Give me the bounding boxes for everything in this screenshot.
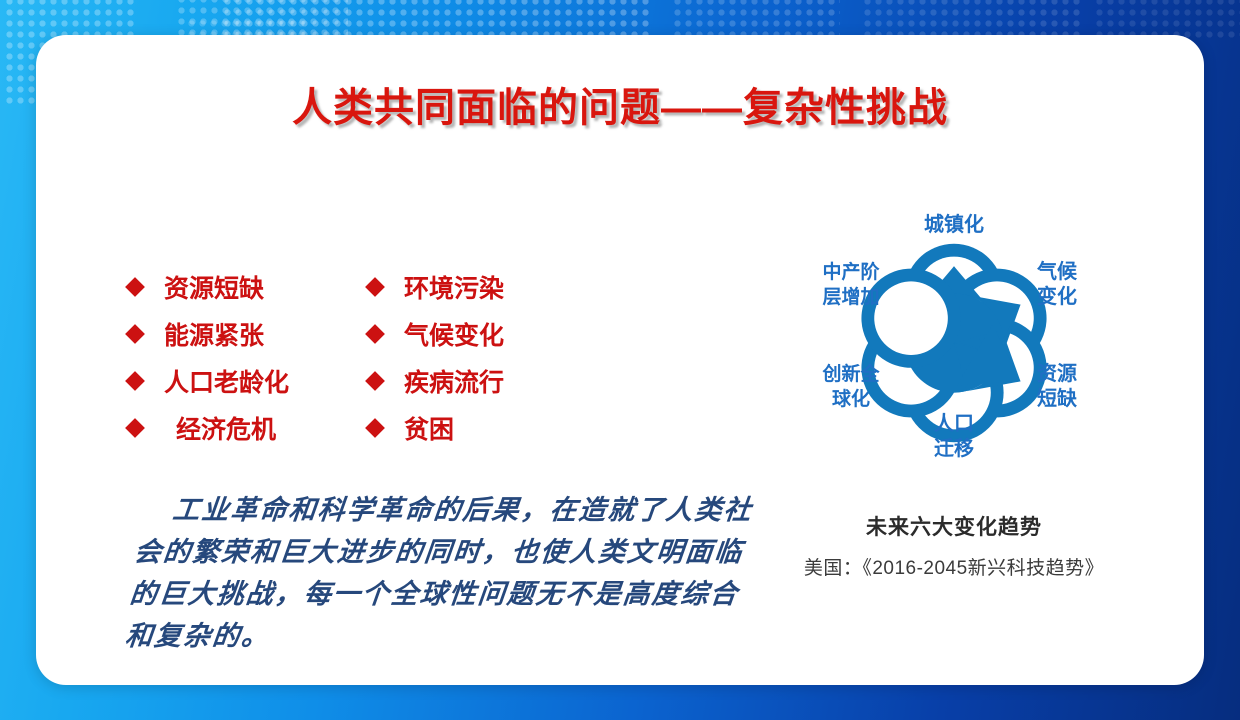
six-trends-flower-diagram: 城镇化 气候 变化 资源 短缺 人口 迁移 bbox=[754, 173, 1154, 503]
petal-label: 资源 bbox=[1037, 361, 1077, 385]
dot-pattern-icon bbox=[862, 0, 1082, 40]
list-item: 经济危机 bbox=[128, 410, 368, 446]
diamond-bullet-icon bbox=[125, 418, 145, 438]
list-item-label: 气候变化 bbox=[404, 316, 504, 352]
petal-label: 创新全 bbox=[821, 362, 880, 385]
list-item-label: 资源短缺 bbox=[164, 269, 264, 305]
diamond-bullet-icon bbox=[365, 371, 385, 391]
content-card: 人类共同面临的问题——复杂性挑战 资源短缺 环境污染 能源紧张 气候变化 bbox=[36, 35, 1204, 685]
petal-label: 城镇化 bbox=[924, 212, 984, 236]
diamond-bullet-icon bbox=[125, 371, 145, 391]
diamond-bullet-icon bbox=[125, 277, 145, 297]
petal-label: 短缺 bbox=[1037, 386, 1078, 410]
page-title: 人类共同面临的问题——复杂性挑战 bbox=[36, 75, 1204, 133]
dot-pattern-icon bbox=[176, 0, 348, 40]
slide-canvas: 人类共同面临的问题——复杂性挑战 资源短缺 环境污染 能源紧张 气候变化 bbox=[0, 0, 1240, 720]
list-item-label: 经济危机 bbox=[164, 410, 276, 446]
list-item-label: 人口老龄化 bbox=[164, 363, 289, 399]
dot-pattern-icon bbox=[1094, 0, 1240, 40]
list-item-label: 疾病流行 bbox=[404, 363, 504, 399]
diamond-bullet-icon bbox=[365, 418, 385, 438]
diamond-bullet-icon bbox=[365, 324, 385, 344]
list-item: 人口老龄化 bbox=[128, 363, 368, 399]
petal-label: 变化 bbox=[1037, 284, 1077, 308]
diagram-source: 美国：《2016-2045新兴科技趋势》 bbox=[736, 553, 1172, 580]
handwritten-paragraph: 工业革命和科学革命的后果，在造就了人类社会的繁荣和巨大进步的同时，也使人类文明面… bbox=[123, 490, 761, 658]
petal-label: 中产阶 bbox=[822, 260, 880, 283]
list-item: 能源紧张 bbox=[128, 316, 368, 352]
petal-label: 迁移 bbox=[934, 437, 974, 460]
list-item: 气候变化 bbox=[368, 316, 608, 352]
list-item-label: 能源紧张 bbox=[164, 316, 264, 352]
diagram-caption: 未来六大变化趋势 bbox=[754, 511, 1154, 541]
petal-label: 层增加 bbox=[822, 285, 879, 308]
petal-label: 气候 bbox=[1036, 259, 1078, 283]
list-item-label: 环境污染 bbox=[404, 269, 504, 305]
dot-pattern-icon bbox=[672, 0, 840, 40]
issue-bullet-list: 资源短缺 环境污染 能源紧张 气候变化 人口老龄化 疾病流行 bbox=[128, 263, 648, 451]
petal-label: 球化 bbox=[832, 387, 870, 410]
dot-pattern-icon bbox=[222, 0, 652, 40]
list-item: 贫困 bbox=[368, 410, 608, 446]
petal-label: 人口 bbox=[934, 412, 974, 435]
list-item: 资源短缺 bbox=[128, 269, 368, 305]
list-item-label: 贫困 bbox=[404, 410, 454, 446]
diamond-bullet-icon bbox=[365, 277, 385, 297]
list-item: 环境污染 bbox=[368, 269, 608, 305]
diamond-bullet-icon bbox=[125, 324, 145, 344]
list-item: 疾病流行 bbox=[368, 363, 608, 399]
